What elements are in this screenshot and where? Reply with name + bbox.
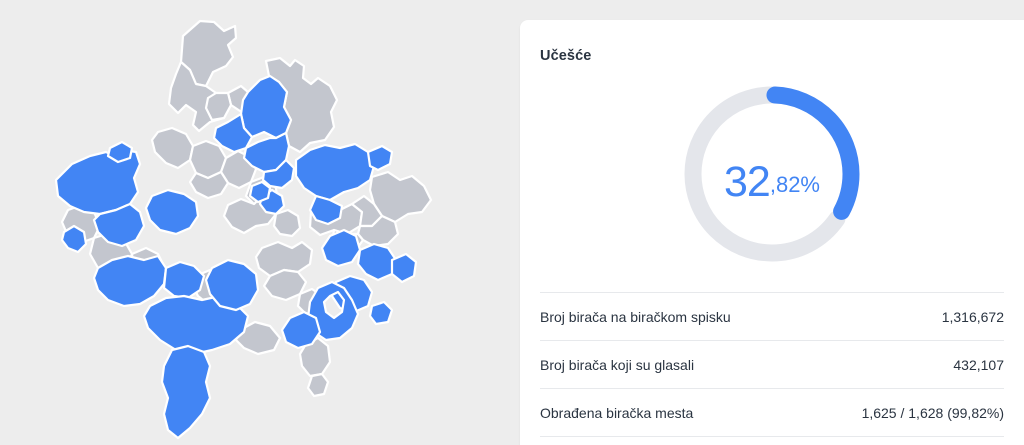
map-region-gray[interactable] (274, 210, 300, 236)
map-region-blue[interactable] (164, 262, 204, 298)
map-region-blue[interactable] (162, 346, 210, 438)
page-root: Učešće 32,82% Broj birača na biračkom sp… (0, 0, 1024, 445)
stat-label: Obrađena biračka mesta (540, 405, 693, 421)
table-row: Broj birača na biračkom spisku 1,316,672 (540, 292, 1004, 340)
stat-value: 1,316,672 (942, 309, 1004, 325)
stat-label: Broj birača koji su glasali (540, 357, 694, 373)
map-region-blue[interactable] (108, 142, 132, 162)
participation-card: Učešće 32,82% Broj birača na biračkom sp… (520, 20, 1024, 445)
donut-chart: 32,82% (520, 74, 1024, 290)
table-row: Obrađena biračka mesta 1,625 / 1,628 (99… (540, 388, 1004, 436)
map-region-blue[interactable] (296, 144, 374, 200)
map-region-blue[interactable] (322, 230, 360, 266)
map-region-blue[interactable] (94, 256, 166, 306)
map-region-blue[interactable] (392, 254, 416, 282)
map-region-blue[interactable] (250, 182, 270, 202)
stat-label: Broj birača na biračkom spisku (540, 309, 731, 325)
stats-list: Broj birača na biračkom spisku 1,316,672… (540, 292, 1004, 445)
map-region-blue[interactable] (368, 146, 392, 170)
kosovo-municipalities-map[interactable] (0, 0, 512, 445)
table-row: Broj birača koji su glasali 432,107 (540, 340, 1004, 388)
donut-chart-svg (672, 74, 872, 274)
map-region-blue[interactable] (370, 302, 392, 324)
map-region-gray[interactable] (308, 374, 328, 396)
map-region-blue[interactable] (358, 244, 396, 280)
map-region-blue[interactable] (62, 226, 86, 252)
map-panel (0, 0, 512, 445)
map-region-blue[interactable] (146, 190, 198, 234)
card-title: Učešće (540, 48, 591, 64)
stat-value: 1,625 / 1,628 (99,82%) (862, 405, 1004, 421)
table-row: Učešće* 32,82% (540, 436, 1004, 445)
map-region-blue[interactable] (310, 196, 342, 224)
map-region-gray[interactable] (206, 93, 231, 120)
map-region-gray[interactable] (152, 128, 193, 168)
stat-value: 432,107 (953, 357, 1004, 373)
